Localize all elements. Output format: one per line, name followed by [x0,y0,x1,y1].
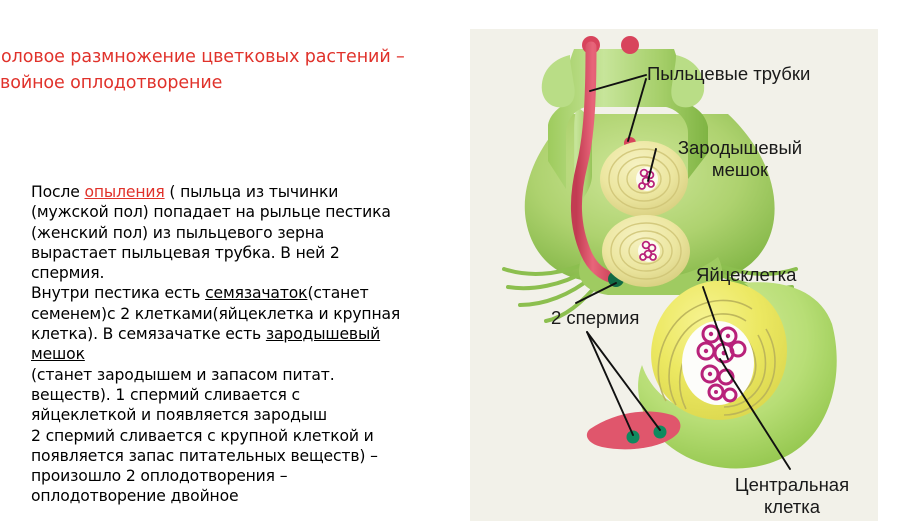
page-title: Половое размножение цветковых растений –… [0,44,458,96]
sperm-cell-2 [654,426,667,439]
ovule-lower [602,215,690,287]
body-line-12: яйцеклеткой и появляется зародыш [31,405,461,425]
label-two-sperm: 2 спермия [551,307,639,329]
body-line-9: мешок [31,344,461,364]
body-line-2: (мужской пол) попадает на рыльце пестика [31,202,461,222]
lesson-body-text: После опыления ( пыльца из тычинки (мужс… [31,182,461,507]
double-fertilization-illustration [470,29,878,521]
body-line-5: спермия. [31,263,461,283]
pollination-term-link[interactable]: опыления [84,183,164,201]
label-pollen-tubes: Пыльцевые трубки [647,63,810,85]
body-line-11: веществ). 1 спермий сливается с [31,385,461,405]
body-line-3: (женский пол) из пыльцевого зерна [31,223,461,243]
stigma-left-lobe [542,55,575,107]
body-line-1-pre: После [31,183,84,201]
body-line-6: Внутри пестика есть семязачаток(станет [31,283,461,303]
body-line-16: оплодотворение двойное [31,486,461,506]
body-line-6-pre: Внутри пестика есть [31,284,205,302]
body-line-8-pre: клетка). В семязачатке есть [31,325,266,343]
body-line-6-post: (станет [307,284,368,302]
body-line-13: 2 спермий сливается с крупной клеткой и [31,426,461,446]
label-central-cell: Центральная клетка [702,474,878,518]
fertilization-diagram-panel: Пыльцевые трубки Зародышевый мешок Яйцек… [470,29,878,521]
embryo-sac-term-part2: мешок [31,345,85,363]
pollen-tube-tip [587,411,681,449]
body-line-10: (станет зародышем и запасом питат. [31,365,461,385]
body-line-14: появляется запас питательных веществ) – [31,446,461,466]
body-line-7: семенем)с 2 клетками(яйцеклетка и крупна… [31,304,461,324]
label-egg-cell: Яйцеклетка [696,264,796,286]
body-line-4: вырастает пыльцевая трубка. В ней 2 [31,243,461,263]
slide-canvas: Половое размножение цветковых растений –… [0,0,910,512]
body-line-8: клетка). В семязачатке есть зародышевый [31,324,461,344]
body-line-15: произошло 2 оплодотворения – [31,466,461,486]
sperm-cell-1 [627,431,640,444]
embryo-sac-term-part1: зародышевый [266,325,380,343]
label-embryo-sac: Зародышевый мешок [660,137,820,181]
ovule-term: семязачаток [205,284,307,302]
body-line-1-post: ( пыльца из тычинки [165,183,339,201]
body-line-1: После опыления ( пыльца из тычинки [31,182,461,202]
